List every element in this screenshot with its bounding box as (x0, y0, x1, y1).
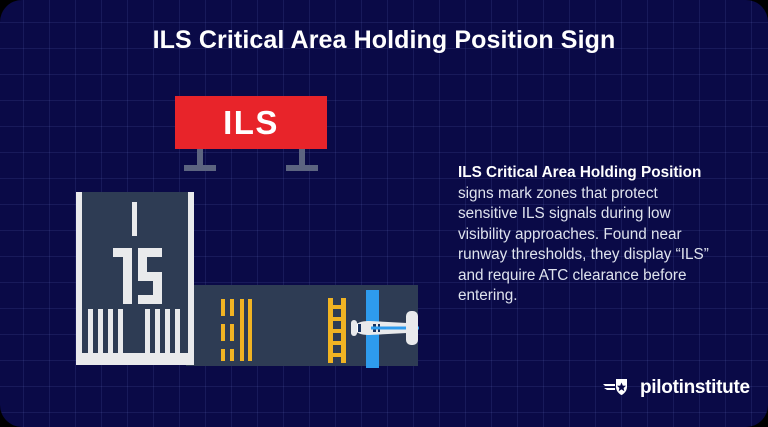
threshold-stripes-right (145, 309, 180, 354)
threshold-stripe (165, 309, 170, 354)
sign-leg-post (299, 149, 305, 166)
sign-leg-post (197, 149, 203, 166)
threshold-stripe (88, 309, 93, 354)
threshold-stripe (108, 309, 113, 354)
infographic-card: ILS Critical Area Holding Position Sign … (0, 0, 768, 427)
runway-threshold-bar (76, 353, 194, 365)
threshold-stripe (155, 309, 160, 354)
threshold-stripes-left (88, 309, 123, 354)
digit-5-upper-left (138, 248, 147, 275)
ladder-rung (332, 305, 342, 309)
holding-position-dashed-line (221, 299, 225, 361)
digit-1-stem (123, 248, 132, 304)
ils-sign-graphic: ILS (175, 96, 327, 174)
ladder-rung (332, 329, 342, 333)
threshold-stripe (175, 309, 180, 354)
sign-leg-left (184, 149, 216, 171)
description-body: signs mark zones that protect sensitive … (458, 185, 709, 305)
holding-position-solid-line (248, 299, 252, 361)
description-lead: ILS Critical Area Holding Position (458, 164, 701, 181)
holding-position-dashed-line (230, 299, 234, 361)
threshold-stripe (145, 309, 150, 354)
runway-centerline-dash (132, 202, 137, 236)
description-text: ILS Critical Area Holding Position signs… (458, 163, 718, 307)
airplane-top-view-icon (349, 303, 422, 353)
ils-sign-board: ILS (175, 96, 327, 149)
runway-edge-line-right (188, 192, 194, 365)
runway-graphic (76, 192, 194, 365)
sign-leg-foot (286, 165, 318, 171)
ladder-rung (332, 317, 342, 321)
brand-logo[interactable]: pilotinstitute (603, 377, 750, 399)
page-title: ILS Critical Area Holding Position Sign (0, 26, 768, 55)
sign-leg-foot (184, 165, 216, 171)
threshold-stripe (98, 309, 103, 354)
threshold-stripe (118, 309, 123, 354)
ladder-rung (332, 341, 342, 345)
digit-5-bottom (138, 295, 162, 304)
runway-edge-line-left (76, 192, 82, 365)
sign-leg-right (286, 149, 318, 171)
ladder-rung (332, 353, 342, 357)
winged-shield-star-icon (603, 377, 633, 399)
runway-designator-15 (107, 248, 163, 304)
ils-critical-area-ladder-marking (328, 298, 346, 363)
digit-1-serif (113, 248, 123, 257)
holding-position-solid-line (240, 299, 244, 361)
ils-sign-label: ILS (223, 106, 279, 139)
brand-logo-text: pilotinstitute (640, 377, 750, 399)
